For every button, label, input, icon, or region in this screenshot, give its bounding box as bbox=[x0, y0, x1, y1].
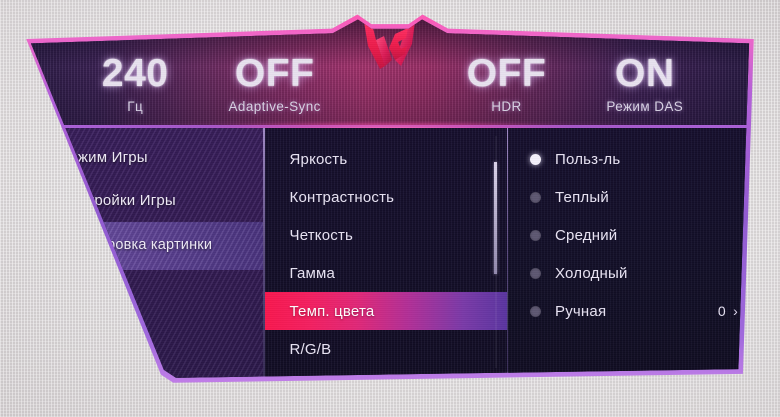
status-das-mode: ON Режим DAS bbox=[600, 54, 690, 114]
color-temp-options: Польз-ль Теплый Средний Холодный Ручная … bbox=[508, 128, 772, 380]
status-refresh-rate-value: 240 bbox=[90, 54, 180, 93]
submenu-label-contrast: Контрастность bbox=[290, 189, 395, 206]
radio-icon-manual[interactable] bbox=[530, 306, 541, 317]
radio-icon-medium[interactable] bbox=[530, 230, 541, 241]
radio-icon-cool[interactable] bbox=[530, 268, 541, 279]
option-label-manual: Ручная bbox=[555, 303, 718, 320]
submenu-label-brightness: Яркость bbox=[290, 151, 348, 168]
chevron-right-icon[interactable]: › bbox=[733, 304, 738, 318]
option-warm[interactable]: Теплый bbox=[508, 178, 772, 216]
submenu-label-color-temp: Темп. цвета bbox=[290, 303, 375, 320]
submenu-label-gamma: Гамма bbox=[290, 265, 336, 282]
radio-icon-custom[interactable] bbox=[530, 154, 541, 165]
status-das-mode-label: Режим DAS bbox=[600, 99, 690, 114]
submenu-item-brightness[interactable]: Яркость bbox=[265, 140, 507, 178]
option-medium[interactable]: Средний bbox=[508, 216, 772, 254]
status-adaptive-sync: OFF Adaptive-Sync bbox=[229, 54, 321, 114]
status-adaptive-sync-value: OFF bbox=[229, 54, 321, 93]
status-hdr: OFF HDR bbox=[461, 54, 551, 114]
status-refresh-rate-label: Гц bbox=[90, 99, 180, 114]
option-label-custom: Польз-ль bbox=[555, 151, 738, 168]
option-label-warm: Теплый bbox=[555, 189, 738, 206]
submenu-item-contrast[interactable]: Контрастность bbox=[265, 178, 507, 216]
submenu-item-rgb[interactable]: R/G/B bbox=[265, 330, 507, 368]
option-label-cool: Холодный bbox=[555, 265, 738, 282]
submenu-item-sharpness[interactable]: Четкость bbox=[265, 216, 507, 254]
status-hdr-label: HDR bbox=[461, 99, 551, 114]
option-custom[interactable]: Польз-ль bbox=[508, 140, 772, 178]
status-adaptive-sync-label: Adaptive-Sync bbox=[229, 99, 321, 114]
radio-icon-warm[interactable] bbox=[530, 192, 541, 203]
status-refresh-rate: 240 Гц bbox=[90, 54, 180, 114]
submenu-label-rgb: R/G/B bbox=[290, 341, 332, 358]
picture-adjust-submenu: Яркость Контрастность Четкость Гамма Тем… bbox=[265, 128, 507, 380]
option-manual[interactable]: Ручная 0 › bbox=[508, 292, 772, 330]
submenu-item-gamma[interactable]: Гамма bbox=[265, 254, 507, 292]
option-label-medium: Средний bbox=[555, 227, 738, 244]
option-value-manual: 0 bbox=[718, 303, 726, 319]
option-cool[interactable]: Холодный bbox=[508, 254, 772, 292]
submenu-label-sharpness: Четкость bbox=[290, 227, 354, 244]
status-das-mode-value: ON bbox=[600, 54, 690, 93]
submenu-item-color-temp[interactable]: Темп. цвета bbox=[265, 292, 507, 330]
submenu-scrollbar-thumb[interactable] bbox=[494, 162, 496, 274]
status-hdr-value: OFF bbox=[461, 54, 551, 93]
